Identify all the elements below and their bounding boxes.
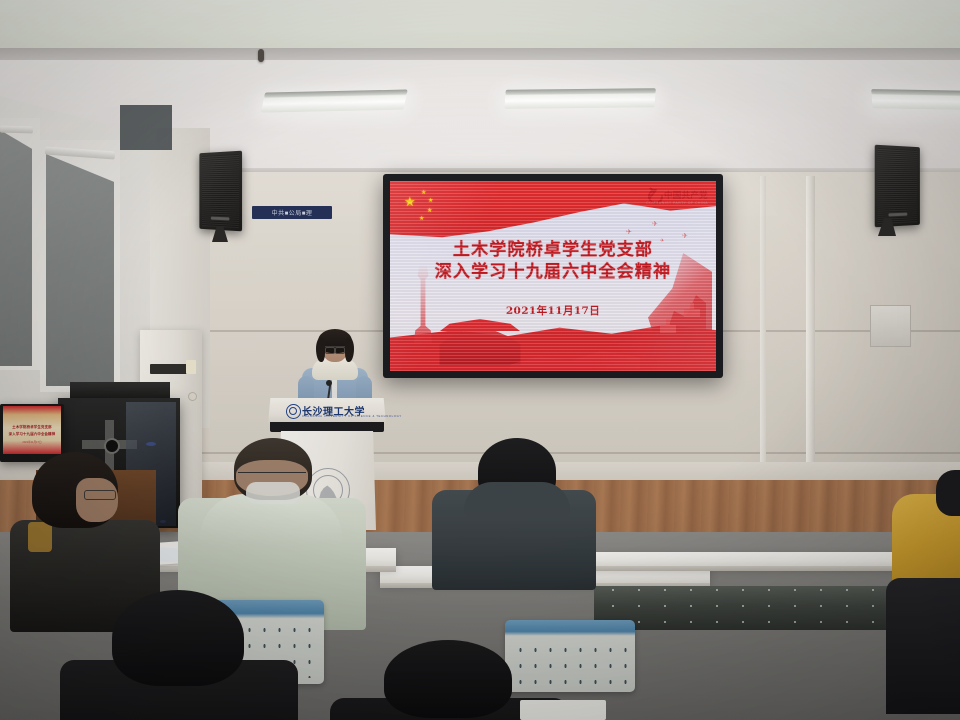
speaker-right [875,145,920,228]
confidence-monitor-screen: 土木学院桥卓学生党支部 深入学习十九届六中全会精神 2021年11月17日 [3,406,61,454]
ceiling-light-2 [504,91,655,109]
dark-wall-recess [120,105,172,150]
student-front-left-collar [28,522,52,552]
student-yellow-jacket [884,494,960,720]
microphone-icon [326,380,332,386]
student-yellow-jacket-head [936,470,960,516]
desk-row-1-right-edge [560,566,912,571]
student-front-left-glasses-icon [84,490,116,500]
student-back-center-head [384,640,512,718]
student-back-left-head [112,590,244,686]
window-blind-2 [46,154,114,386]
podium-branding: 长沙理工大学 CHANGSHA UNIVERSITY OF SCIENCE & … [286,403,370,419]
wall-pillar-right [806,176,815,466]
student-grey-hoodie-hood [464,482,570,516]
window-blind-1 [0,130,32,366]
ac-display-panel[interactable] [186,360,196,374]
student-yellow-jacket-lower [886,578,960,714]
student-grey-hoodie [418,438,608,578]
monitor-text-line-1: 土木学院桥卓学生党支部 [3,424,61,429]
ceiling-upper-slab [0,0,960,50]
student-mint-hoodie-mask-icon [246,482,300,504]
student-back-left [60,590,300,720]
ceiling-light-1 [261,93,407,113]
screen-info-plate: 中共■公局■理 [252,206,332,219]
monitor-text-line-2: 深入学习十九届六中全会精神 [3,431,61,436]
blind-headrail-1 [0,126,33,134]
wall-pillar-left [760,176,766,466]
desk-modesty-panel-right [594,586,894,630]
presenter-hair-left [316,338,325,362]
university-seal-icon [286,404,301,419]
podium-university-name-en: CHANGSHA UNIVERSITY OF SCIENCE & TECHNOL… [302,414,402,418]
podium-front-lip [270,422,384,432]
monitor-text-line-3: 2021年11月17日 [3,440,61,444]
ceiling-sensor-icon [258,49,264,62]
presenter-at-podium [296,332,372,404]
screen-display-area: ★ ★ ★ ★ ★ ✈ ✈ ✈ ✈ 中国共产党 COMMUNIST PARTY … [390,181,716,371]
ac-vent-icon [150,364,188,374]
projection-screen[interactable]: ★ ★ ★ ★ ★ ✈ ✈ ✈ ✈ 中国共产党 COMMUNIST PARTY … [383,174,723,378]
screen-plate-text: 中共■公局■理 [272,208,313,217]
classroom-photo-scene: ★ ★ ★ ★ ★ ✈ ✈ ✈ ✈ 中国共产党 COMMUNIST PARTY … [0,0,960,720]
ac-knob-icon[interactable] [188,392,197,401]
student-front-left-face [76,478,118,522]
electrical-panel-icon[interactable] [870,305,911,347]
presenter-glasses-icon [325,346,345,352]
paper-sheet-3 [520,700,606,720]
student-mint-hoodie-glasses-icon [238,472,306,480]
speaker-left [199,151,242,232]
ceiling-light-3 [871,92,960,110]
presenter-hair-right [345,338,354,362]
